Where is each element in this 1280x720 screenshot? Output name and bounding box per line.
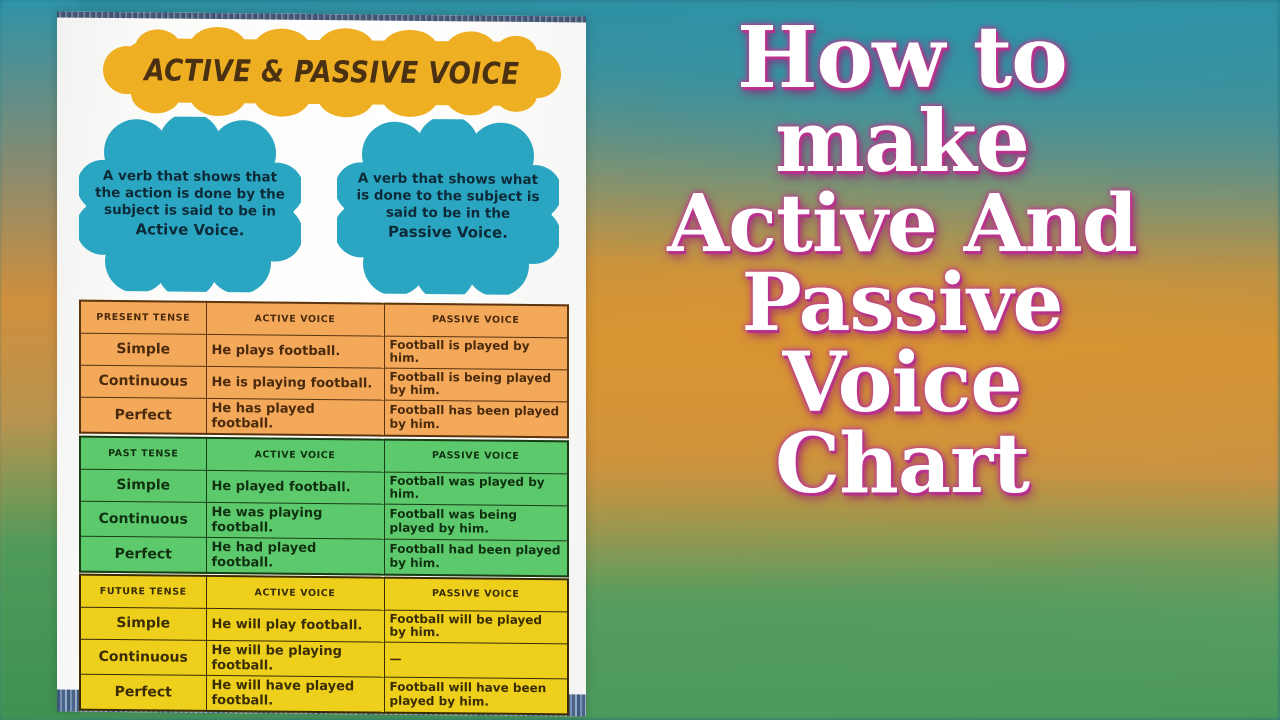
cell-tense: Simple (80, 333, 206, 366)
cell-tense: Continuous (80, 639, 206, 675)
future-tense-table: Future Tense Active Voice Passive Voice … (79, 574, 569, 715)
active-voice-definition-cloud: A verb that shows that the action is don… (79, 116, 301, 293)
title-line-6: Chart (552, 424, 1252, 505)
table-header-row: Future Tense Active Voice Passive Voice (80, 575, 568, 612)
table-header-row: Present Tense Active Voice Passive Voice (80, 301, 568, 338)
title-line-4: Passive (552, 263, 1252, 342)
cell-passive: Football was being played by him. (384, 504, 568, 541)
passive-voice-definition-text: A verb that shows what is done to the su… (353, 170, 543, 244)
table-row: Continuous He will be playing football. … (80, 639, 568, 679)
cell-passive: Football has been played by him. (384, 400, 568, 437)
col-header-passive: Passive Voice (384, 578, 568, 612)
cell-passive: Football had been played by him. (384, 539, 568, 576)
cell-passive: — (384, 642, 568, 679)
video-title-overlay: How to make Active And Passive Voice Cha… (552, 16, 1252, 505)
cell-active: He will be playing football. (206, 640, 384, 677)
title-line-5: Voice (552, 343, 1252, 424)
active-voice-definition-text: A verb that shows that the action is don… (95, 167, 285, 241)
title-line-2: make (552, 100, 1252, 184)
table-row: Perfect He will have played football. Fo… (80, 674, 568, 714)
col-header-active: Active Voice (206, 576, 384, 610)
table-header-row: Past Tense Active Voice Passive Voice (80, 437, 568, 474)
col-header-passive: Passive Voice (384, 304, 568, 338)
table-row: Simple He plays football. Football is pl… (80, 333, 568, 370)
cell-active: He had played football. (206, 537, 384, 574)
col-header-tense: Future Tense (80, 575, 206, 608)
col-header-tense: Past Tense (80, 437, 206, 470)
table-row: Perfect He had played football. Football… (80, 536, 568, 576)
past-tense-table: Past Tense Active Voice Passive Voice Si… (79, 436, 569, 577)
table-row: Simple He will play football. Football w… (80, 607, 568, 644)
title-line-1: How to (552, 16, 1252, 100)
cell-tense: Simple (80, 469, 206, 502)
col-header-active: Active Voice (206, 438, 384, 472)
cell-passive: Football is played by him. (384, 336, 568, 370)
title-line-3: Active And (552, 184, 1252, 263)
poster-banner-title: Active & Passive Voice (123, 38, 540, 106)
cell-active: He will play football. (206, 608, 384, 642)
cell-active: He was playing football. (206, 502, 384, 539)
col-header-active: Active Voice (206, 302, 384, 336)
cell-active: He plays football. (206, 334, 384, 368)
cell-tense: Perfect (80, 536, 206, 573)
table-row: Perfect He has played football. Football… (80, 397, 568, 437)
col-header-tense: Present Tense (80, 301, 206, 334)
cell-passive: Football was played by him. (384, 472, 568, 506)
cell-tense: Perfect (80, 674, 206, 711)
col-header-passive: Passive Voice (384, 440, 568, 474)
table-row: Simple He played football. Football was … (80, 469, 568, 506)
cell-tense: Simple (80, 607, 206, 640)
cell-active: He has played football. (206, 398, 384, 435)
cell-active: He played football. (206, 470, 384, 504)
poster-card: Active & Passive Voice (57, 11, 586, 716)
passive-voice-definition-cloud: A verb that shows what is done to the su… (337, 118, 559, 295)
cell-tense: Continuous (80, 365, 206, 398)
table-row: Continuous He is playing football. Footb… (80, 365, 568, 402)
cell-active: He will have played football. (206, 675, 384, 712)
cell-active: He is playing football. (206, 366, 384, 400)
poster-banner: Active & Passive Voice (117, 38, 547, 106)
cell-passive: Football will be played by him. (384, 610, 568, 644)
cell-passive: Football will have been played by him. (384, 677, 568, 714)
table-row: Continuous He was playing football. Foot… (80, 501, 568, 541)
cell-passive: Football is being played by him. (384, 368, 568, 402)
present-tense-table: Present Tense Active Voice Passive Voice… (79, 300, 569, 438)
cell-tense: Perfect (80, 397, 206, 434)
cell-tense: Continuous (80, 501, 206, 537)
